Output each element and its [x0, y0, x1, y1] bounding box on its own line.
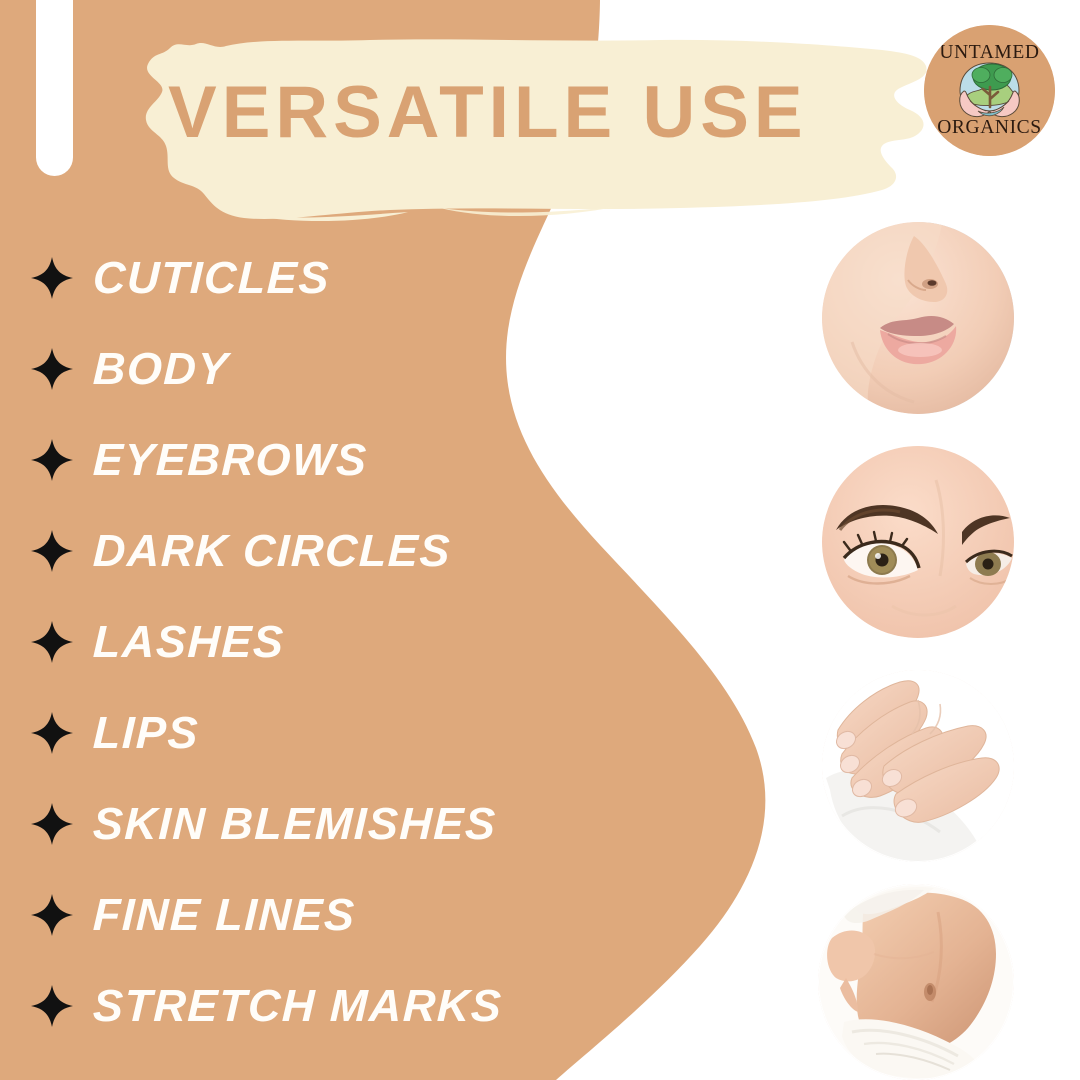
- page-title: VERSATILE USE: [168, 72, 898, 152]
- four-pointed-star-icon: [30, 802, 74, 846]
- list-item: EYEBROWS: [0, 414, 560, 505]
- list-item: LIPS: [0, 687, 560, 778]
- list-item-label: LASHES: [92, 619, 285, 664]
- four-pointed-star-icon: [30, 438, 74, 482]
- list-item-label: SKIN BLEMISHES: [92, 801, 497, 846]
- four-pointed-star-icon: [30, 347, 74, 391]
- poster-canvas: VERSATILE USE UNTAMED ORGANICS: [0, 0, 1080, 1080]
- list-item-label: BODY: [92, 346, 230, 391]
- list-item: SKIN BLEMISHES: [0, 778, 560, 869]
- list-item-label: CUTICLES: [92, 255, 331, 300]
- list-item: LASHES: [0, 596, 560, 687]
- list-item: FINE LINES: [0, 869, 560, 960]
- list-item-label: LIPS: [92, 710, 200, 755]
- list-item-label: DARK CIRCLES: [92, 528, 452, 573]
- list-item-label: FINE LINES: [92, 892, 356, 937]
- four-pointed-star-icon: [30, 529, 74, 573]
- logo-bottom-text: ORGANICS: [937, 117, 1041, 138]
- brand-logo[interactable]: UNTAMED ORGANICS: [924, 25, 1055, 156]
- four-pointed-star-icon: [30, 256, 74, 300]
- list-item: STRETCH MARKS: [0, 960, 560, 1051]
- photo-hands-nails: [822, 670, 1014, 862]
- four-pointed-star-icon: [30, 620, 74, 664]
- list-item: CUTICLES: [0, 232, 560, 323]
- accent-bar: [36, 0, 73, 176]
- feature-list: CUTICLES BODY EYEBROWS DARK CIRCLES LASH: [0, 232, 560, 1051]
- photo-lips-nose-closeup: [822, 222, 1014, 414]
- list-item-label: EYEBROWS: [92, 437, 368, 482]
- list-item: BODY: [0, 323, 560, 414]
- four-pointed-star-icon: [30, 984, 74, 1028]
- photo-eyes-eyebrows: [822, 446, 1014, 638]
- list-item: DARK CIRCLES: [0, 505, 560, 596]
- photo-torso-belly: [818, 884, 1014, 1080]
- tree-in-hands-emblem: [960, 63, 1020, 117]
- four-pointed-star-icon: [30, 711, 74, 755]
- logo-top-text: UNTAMED: [939, 42, 1039, 63]
- four-pointed-star-icon: [30, 893, 74, 937]
- list-item-label: STRETCH MARKS: [92, 983, 503, 1028]
